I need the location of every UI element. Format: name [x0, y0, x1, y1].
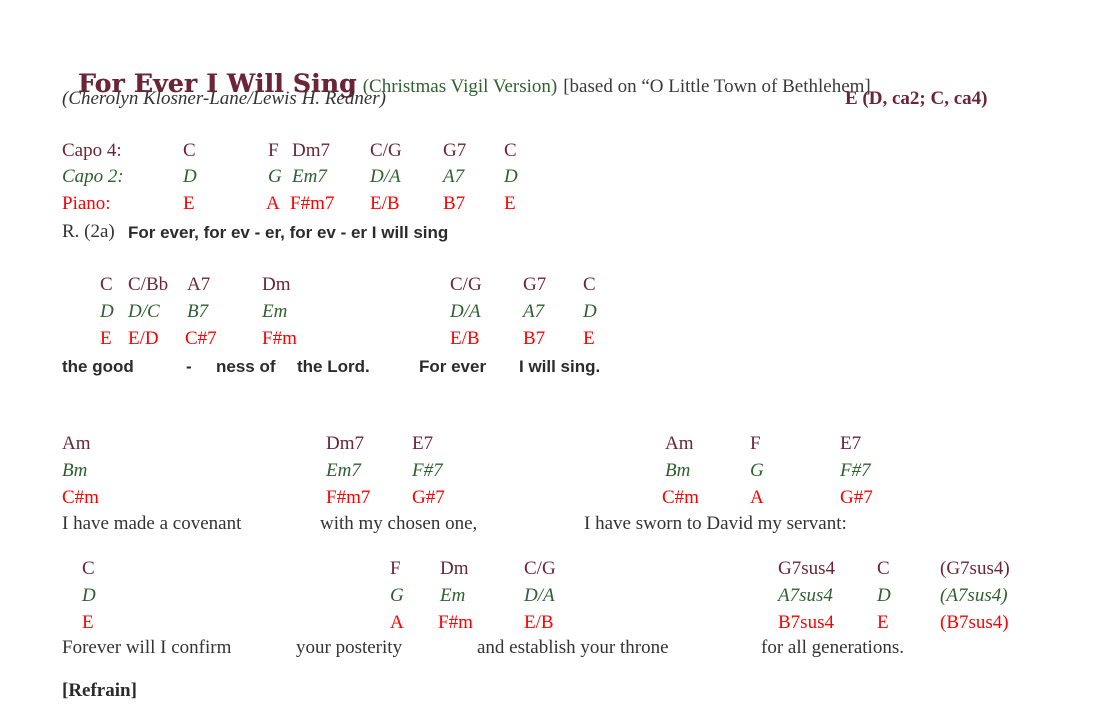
chord-piano-2: A — [266, 193, 280, 215]
chord-capo4-1: Am — [62, 433, 91, 455]
chord-piano-1: E — [183, 193, 195, 215]
chord-piano-5: A — [750, 487, 764, 509]
lead-sheet-page: For Ever I Will Sing(Christmas Vigil Ver… — [0, 0, 1101, 712]
refrain-line2-piano-row: E E/D C#7 F#m E/B B7 E — [0, 328, 1101, 350]
lyric-part-2: with my chosen one, — [320, 513, 477, 535]
lyric-part-1: the good — [62, 357, 134, 377]
lyric-part-4: for all generations. — [761, 637, 904, 659]
chord-capo2-7: (A7sus4) — [940, 585, 1008, 607]
chord-capo4-1: C — [82, 558, 95, 580]
chord-capo4-7: C — [583, 274, 596, 296]
verse-2-capo2-row: D G Em D/A A7sus4 D (A7sus4) — [0, 585, 1101, 607]
chord-capo2-6: D — [504, 166, 518, 188]
chord-capo2-5: D/A — [450, 301, 481, 323]
chord-piano-7: (B7sus4) — [940, 612, 1009, 634]
verse-1-capo2-row: Bm Em7 F#7 Bm G F#7 — [0, 460, 1101, 482]
chord-capo4-5: G7sus4 — [778, 558, 835, 580]
chord-capo2-6: D — [877, 585, 891, 607]
chord-capo2-1: D — [82, 585, 96, 607]
verse-1-piano-row: C#m F#m7 G#7 C#m A G#7 — [0, 487, 1101, 509]
lyric-part-6: I will sing. — [519, 357, 600, 377]
chord-capo4-1: C — [100, 274, 113, 296]
chord-capo2-2: G — [390, 585, 404, 607]
chord-capo4-3: Dm — [440, 558, 469, 580]
chord-piano-6: G#7 — [840, 487, 873, 509]
chord-capo4-2: F — [390, 558, 401, 580]
chord-piano-1: E — [100, 328, 112, 350]
chord-capo2-5: A7sus4 — [778, 585, 833, 607]
chord-piano-4: E/B — [370, 193, 400, 215]
verse-1-lyric-row: I have made a covenant with my chosen on… — [0, 513, 1101, 535]
refrain-label: R. (2a) — [62, 221, 115, 243]
chord-capo4-6: C — [877, 558, 890, 580]
chord-capo4-6: G7 — [523, 274, 546, 296]
chord-capo2-5: A7 — [443, 166, 464, 188]
chord-piano-5: B7sus4 — [778, 612, 834, 634]
chord-capo2-6: F#7 — [840, 460, 871, 482]
version-note: (Christmas Vigil Version) — [363, 76, 558, 97]
refrain-line2-lyric-row: the good - ness of the Lord. For ever I … — [0, 357, 1101, 379]
chord-piano-2: E/D — [128, 328, 159, 350]
chord-capo4-6: E7 — [840, 433, 861, 455]
chord-capo2-4: Bm — [665, 460, 690, 482]
chord-piano-6: E — [504, 193, 516, 215]
chord-capo4-7: (G7sus4) — [940, 558, 1010, 580]
chord-capo2-2: G — [268, 166, 282, 188]
chord-capo4-6: C — [504, 140, 517, 162]
chord-capo2-7: D — [583, 301, 597, 323]
chord-piano-3: C#7 — [185, 328, 217, 350]
chord-capo2-3: Em — [440, 585, 465, 607]
chord-capo4-2: C/Bb — [128, 274, 168, 296]
refrain-lyric-line1: For ever, for ev - er, for ev - er I wil… — [128, 223, 448, 243]
chord-capo4-3: E7 — [412, 433, 433, 455]
composer-credit: (Cherolyn Klosner-Lane/Lewis H. Redner) — [62, 88, 386, 110]
chord-capo4-4: Am — [665, 433, 694, 455]
refrain-line2-capo2-row: D D/C B7 Em D/A A7 D — [0, 301, 1101, 323]
chord-capo4-2: F — [268, 140, 279, 162]
chord-capo2-1: D — [100, 301, 114, 323]
chord-piano-2: A — [390, 612, 404, 634]
lyric-part-1: Forever will I confirm — [62, 637, 231, 659]
lyric-part-3: ness of — [216, 357, 276, 377]
refrain-line2-capo4-row: C C/Bb A7 Dm C/G G7 C — [0, 274, 1101, 296]
chord-capo4-3: A7 — [187, 274, 210, 296]
chord-capo4-5: G7 — [443, 140, 466, 162]
refrain-line1-piano-row: Piano: E A F#m7 E/B B7 E — [0, 193, 1101, 215]
chord-capo4-4: C/G — [524, 558, 556, 580]
chord-piano-7: E — [583, 328, 595, 350]
chord-capo4-4: C/G — [370, 140, 402, 162]
refrain-repeat-tag: [Refrain] — [62, 680, 137, 702]
chord-capo2-3: Em7 — [292, 166, 327, 188]
chord-piano-3: G#7 — [412, 487, 445, 509]
chord-capo2-4: D/A — [524, 585, 555, 607]
chord-piano-3: F#m — [438, 612, 473, 634]
source-note: [based on “O Little Town of Bethlehem] — [563, 76, 871, 97]
lyric-part-5: For ever — [419, 357, 486, 377]
lyric-part-2: - — [186, 357, 192, 377]
lyric-part-4: the Lord. — [297, 357, 370, 377]
chord-capo4-5: F — [750, 433, 761, 455]
refrain-line1-capo2-row: Capo 2: D G Em7 D/A A7 D — [0, 166, 1101, 188]
chord-capo2-6: A7 — [523, 301, 544, 323]
chord-capo2-1: Bm — [62, 460, 87, 482]
piano-label: Piano: — [62, 193, 111, 215]
chord-capo4-5: C/G — [450, 274, 482, 296]
refrain-line1-capo4-row: Capo 4: C F Dm7 C/G G7 C — [0, 140, 1101, 162]
chord-capo2-1: D — [183, 166, 197, 188]
lyric-part-3: I have sworn to David my servant: — [584, 513, 847, 535]
chord-piano-5: B7 — [443, 193, 465, 215]
chord-capo2-4: Em — [262, 301, 287, 323]
lyric-part-2: your posterity — [296, 637, 402, 659]
chord-piano-3: F#m7 — [290, 193, 334, 215]
refrain-line1-lyric-row: R. (2a) For ever, for ev - er, for ev - … — [0, 221, 1101, 243]
chord-capo2-3: F#7 — [412, 460, 443, 482]
chord-capo2-2: D/C — [128, 301, 160, 323]
chord-piano-6: B7 — [523, 328, 545, 350]
verse-2-piano-row: E A F#m E/B B7sus4 E (B7sus4) — [0, 612, 1101, 634]
verse-1-capo4-row: Am Dm7 E7 Am F E7 — [0, 433, 1101, 455]
verse-2-lyric-row: Forever will I confirm your posterity an… — [0, 637, 1101, 659]
chord-capo4-2: Dm7 — [326, 433, 364, 455]
chord-piano-5: E/B — [450, 328, 480, 350]
chord-piano-1: E — [82, 612, 94, 634]
capo2-label: Capo 2: — [62, 166, 124, 188]
chord-capo2-4: D/A — [370, 166, 401, 188]
key-signature-note: E (D, ca2; C, ca4) — [845, 88, 987, 110]
chord-piano-4: E/B — [524, 612, 554, 634]
chord-capo2-3: B7 — [187, 301, 208, 323]
chord-capo4-3: Dm7 — [292, 140, 330, 162]
chord-piano-4: F#m — [262, 328, 297, 350]
verse-2-capo4-row: C F Dm C/G G7sus4 C (G7sus4) — [0, 558, 1101, 580]
chord-piano-4: C#m — [662, 487, 699, 509]
chord-piano-2: F#m7 — [326, 487, 370, 509]
chord-piano-1: C#m — [62, 487, 99, 509]
capo4-label: Capo 4: — [62, 140, 122, 162]
lyric-part-3: and establish your throne — [477, 637, 669, 659]
lyric-part-1: I have made a covenant — [62, 513, 241, 535]
chord-capo4-4: Dm — [262, 274, 291, 296]
chord-capo2-5: G — [750, 460, 764, 482]
chord-piano-6: E — [877, 612, 889, 634]
chord-capo2-2: Em7 — [326, 460, 361, 482]
chord-capo4-1: C — [183, 140, 196, 162]
